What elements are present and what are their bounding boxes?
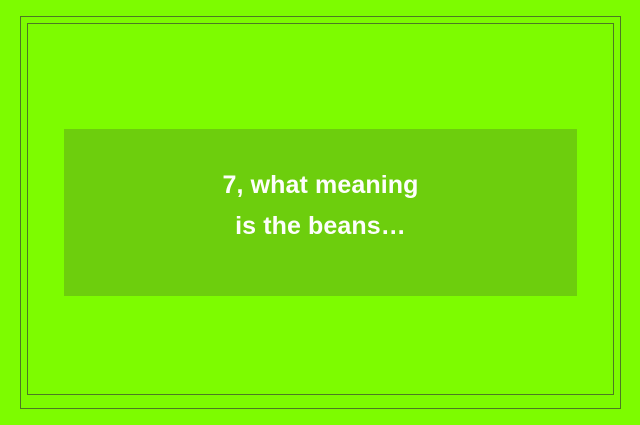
image-canvas: 7, what meaning is the beans…	[0, 0, 640, 425]
caption-panel: 7, what meaning is the beans…	[64, 129, 577, 296]
caption-line-1: 7, what meaning	[64, 165, 577, 206]
caption-line-2: is the beans…	[64, 206, 577, 247]
